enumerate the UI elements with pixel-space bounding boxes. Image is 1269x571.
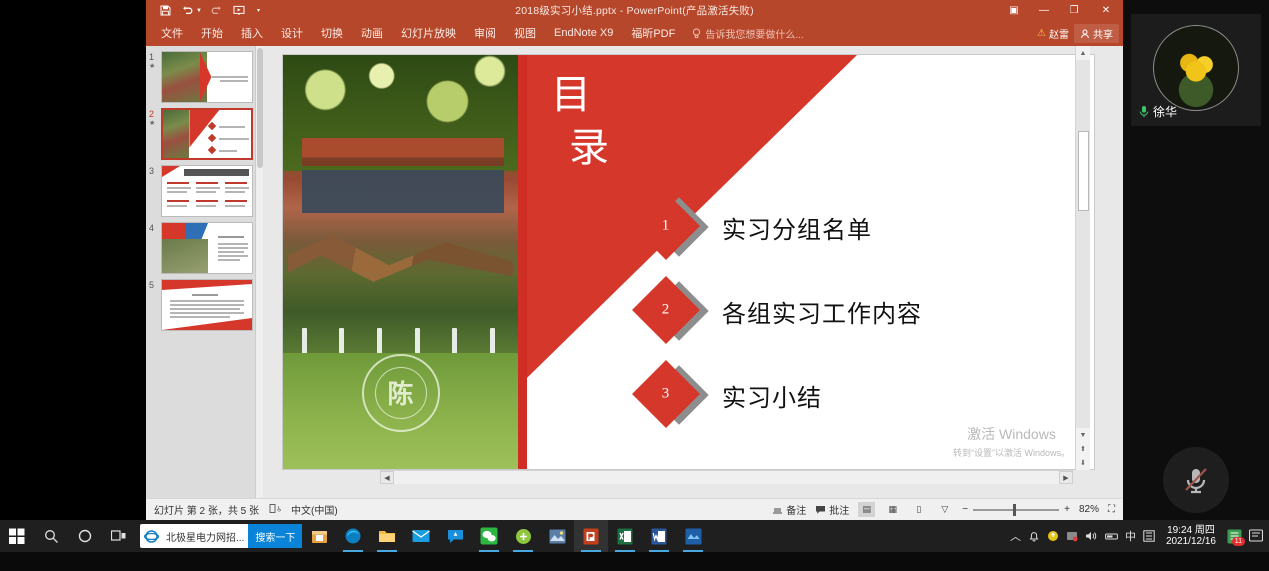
slide-title-line-2: 录 — [569, 122, 611, 175]
zoom-level[interactable]: 82% — [1079, 504, 1099, 515]
fit-slide-button[interactable]: ⛶ — [1108, 504, 1115, 515]
notes-label: 备注 — [786, 502, 806, 517]
thumbnail-preview[interactable] — [161, 165, 253, 217]
thumbnails-scrollbar[interactable] — [255, 46, 263, 498]
reading-view-button[interactable]: ▯ — [910, 502, 927, 517]
lightbulb-icon — [692, 28, 701, 39]
person-icon — [1080, 29, 1090, 39]
slide-canvas-area[interactable]: 陈 目 录 — [263, 46, 1098, 484]
tell-me-box[interactable]: 告诉我您想要做什么... — [692, 26, 803, 41]
quick-access-toolbar: ▼ ▾ — [146, 1, 262, 20]
next-slide-button[interactable]: ⬇ — [1076, 456, 1090, 470]
agenda-number: 3 — [662, 386, 670, 403]
taskbar-clock[interactable]: 19:24 周四 2021/12/16 — [1162, 525, 1220, 548]
thumbnail-slide-1[interactable]: 1 ★ — [146, 46, 263, 103]
svg-text:♿: ♿ — [276, 505, 281, 513]
wechat-icon[interactable] — [472, 520, 506, 552]
agenda-number: 2 — [662, 302, 670, 319]
left-black-border — [0, 0, 146, 520]
show-hidden-icons[interactable]: ︿ — [1010, 528, 1021, 544]
cortana-icon[interactable] — [68, 520, 102, 552]
volume-icon[interactable] — [1085, 530, 1098, 542]
ribbon-right-group: ⚠ 赵雷 共享 — [1037, 21, 1119, 46]
thumbnail-number: 5 — [149, 280, 154, 290]
comments-button[interactable]: 批注 — [815, 502, 849, 517]
muted-mic-icon — [1179, 463, 1213, 497]
animation-star-icon: ★ — [149, 63, 161, 71]
scroll-up-icon[interactable]: ▲ — [1076, 46, 1090, 60]
thumbnail-number: 1 — [149, 52, 154, 62]
user-name: 赵雷 — [1049, 26, 1069, 41]
agenda-item-3[interactable]: 3 实习小结 — [628, 353, 1088, 437]
thumbnail-slide-2[interactable]: 2 ★ — [146, 103, 263, 160]
excel-icon[interactable] — [608, 520, 642, 552]
agenda-text: 各组实习工作内容 — [722, 294, 922, 329]
comments-label: 批注 — [829, 502, 849, 517]
thumbnail-slide-4[interactable]: 4 — [146, 217, 263, 274]
slide-title[interactable]: 目 录 — [551, 69, 611, 175]
search-go-button[interactable]: 搜索一下 — [248, 524, 302, 548]
previous-slide-button[interactable]: ⬆ — [1076, 442, 1090, 456]
work-area: 1 ★ 2 ★ — [146, 46, 1123, 498]
photo-pavilion — [302, 138, 504, 246]
slide-red-stripe — [518, 55, 527, 469]
tab-insert[interactable]: 插入 — [232, 22, 272, 45]
tab-home[interactable]: 开始 — [192, 22, 232, 45]
share-button[interactable]: 共享 — [1074, 24, 1119, 43]
desktop-screen: ▼ ▾ 2018级实习小结.pptx - PowerPoint(产品激活失败) … — [0, 0, 1269, 571]
watermark-line-2: 转到“设置”以激活 Windows。 — [953, 446, 1070, 459]
tell-me-placeholder: 告诉我您想要做什么... — [705, 26, 803, 41]
video-call-panel: 徐华 — [1123, 0, 1269, 520]
tab-endnote[interactable]: EndNote X9 — [545, 24, 622, 43]
notification-badge: 11 — [1232, 537, 1245, 546]
microsoft-store-icon[interactable] — [302, 520, 336, 552]
clock-time: 19:24 周四 — [1166, 525, 1216, 537]
thumbnail-preview[interactable] — [161, 108, 253, 160]
search-query-text[interactable]: 北极星电力网招... — [162, 529, 248, 544]
agenda-item-1[interactable]: 1 实习分组名单 — [628, 185, 1088, 269]
red-diamond-icon: 2 — [632, 276, 700, 344]
red-diamond-icon: 3 — [632, 360, 700, 428]
scroll-right-icon[interactable]: ▶ — [1059, 471, 1073, 484]
agenda-item-2[interactable]: 2 各组实习工作内容 — [628, 269, 1088, 353]
system-tray: ︿ 中 19:24 周四 2021/12/16 — [1010, 525, 1269, 548]
close-button[interactable]: ✕ — [1089, 0, 1123, 21]
task-view-icon[interactable] — [102, 520, 136, 552]
windows-taskbar: 北极星电力网招... 搜索一下 — [0, 520, 1269, 552]
slide-title-line-1: 目 — [551, 69, 611, 122]
agenda-diamond-marker: 1 — [628, 196, 714, 258]
agenda-number: 1 — [662, 218, 670, 235]
participant-name: 徐华 — [1153, 103, 1177, 120]
agenda-text: 实习小结 — [722, 378, 822, 413]
network-icon[interactable] — [1105, 531, 1118, 542]
window-title: 2018级实习小结.pptx - PowerPoint(产品激活失败) — [146, 3, 1123, 18]
search-icon[interactable] — [34, 520, 68, 552]
file-explorer-icon[interactable] — [370, 520, 404, 552]
slideshow-icon[interactable] — [228, 1, 250, 20]
minimize-button[interactable]: — — [1029, 0, 1059, 21]
slide-counter: 幻灯片 第 2 张，共 5 张 — [154, 502, 259, 517]
status-bar: 幻灯片 第 2 张，共 5 张 ♿ 中文(中国) 备注 批注 ▤ ▦ ▯ ▽ — [146, 498, 1123, 520]
slide-sorter-view-button[interactable]: ▦ — [884, 502, 901, 517]
zoom-thumb[interactable] — [1013, 504, 1016, 516]
ime-tools-icon[interactable] — [1143, 530, 1155, 542]
thumbnail-slide-3[interactable]: 3 — [146, 160, 263, 217]
agenda-diamond-marker: 2 — [628, 280, 714, 342]
normal-view-button[interactable]: ▤ — [858, 502, 875, 517]
tab-foxit-pdf[interactable]: 福昕PDF — [622, 22, 684, 45]
current-slide[interactable]: 陈 目 录 — [282, 54, 1095, 470]
seal-inner-ring: 陈 — [375, 367, 427, 419]
share-label: 共享 — [1093, 26, 1113, 41]
window-controls: ▣ — ❐ ✕ — [999, 0, 1123, 21]
update-icon[interactable] — [1047, 530, 1059, 542]
ribbon-tab-bar: 文件 开始 插入 设计 切换 动画 幻灯片放映 审阅 视图 EndNote X9… — [146, 21, 1123, 46]
thumbnail-preview[interactable] — [161, 222, 253, 274]
thumbnail-slide-5[interactable]: 5 — [146, 274, 263, 331]
zoom-track[interactable] — [973, 509, 1059, 511]
mail-icon[interactable] — [404, 520, 438, 552]
taskbar-search-box[interactable]: 北极星电力网招... 搜索一下 — [140, 524, 302, 548]
thumbnail-number: 3 — [149, 166, 154, 176]
tab-file[interactable]: 文件 — [152, 22, 192, 45]
red-diamond-icon: 1 — [632, 192, 700, 260]
clock-date: 2021/12/16 — [1166, 536, 1216, 548]
title-bar: ▼ ▾ 2018级实习小结.pptx - PowerPoint(产品激活失败) … — [146, 0, 1123, 21]
action-center-icon[interactable] — [1249, 529, 1263, 543]
notes-icon — [772, 505, 783, 515]
thumbnail-number: 2 — [149, 109, 154, 119]
tab-view[interactable]: 视图 — [505, 22, 545, 45]
start-icon[interactable] — [0, 520, 34, 552]
participant-name-row: 徐华 — [1139, 103, 1177, 120]
tab-animations[interactable]: 动画 — [352, 22, 392, 45]
university-seal-logo: 陈 — [362, 354, 440, 432]
slide-vertical-scrollbar[interactable]: ▲ ▼ ⬆ ⬇ — [1075, 46, 1090, 470]
security-icon[interactable] — [1066, 530, 1078, 542]
ime-icon[interactable]: 中 — [1125, 528, 1136, 544]
slide-horizontal-scrollbar[interactable]: ◀ ▶ — [380, 470, 1073, 484]
seal-character: 陈 — [387, 374, 413, 411]
accessibility-icon[interactable]: ♿ — [269, 503, 281, 517]
zoom-out-button[interactable]: − — [962, 504, 968, 515]
participant-avatar — [1153, 25, 1239, 111]
warning-icon: ⚠ — [1037, 28, 1046, 39]
notifications-icon[interactable]: 11 — [1227, 529, 1242, 544]
bottom-black-border — [0, 552, 1269, 571]
bell-icon[interactable] — [1028, 530, 1040, 542]
undo-dropdown-icon[interactable]: ▼ — [196, 8, 202, 14]
scrollbar-track[interactable] — [1076, 60, 1090, 428]
slideshow-view-button[interactable]: ▽ — [936, 502, 953, 517]
scroll-left-icon[interactable]: ◀ — [380, 471, 394, 484]
redo-icon[interactable] — [205, 1, 227, 20]
thumbnail-preview[interactable] — [161, 279, 253, 331]
zoom-in-button[interactable]: + — [1064, 504, 1070, 515]
green-app-icon[interactable] — [506, 520, 540, 552]
tab-design[interactable]: 设计 — [272, 22, 312, 45]
save-icon[interactable] — [154, 1, 176, 20]
tim-icon[interactable] — [438, 520, 472, 552]
scrollbar-thumb[interactable] — [1078, 131, 1089, 211]
status-right-group: 备注 批注 ▤ ▦ ▯ ▽ − + 82% ⛶ — [772, 502, 1123, 517]
tab-transitions[interactable]: 切换 — [312, 22, 352, 45]
internet-explorer-icon — [140, 529, 162, 544]
account-status[interactable]: ⚠ 赵雷 — [1037, 26, 1069, 41]
microphone-icon — [1139, 105, 1149, 118]
powerpoint-window: ▼ ▾ 2018级实习小结.pptx - PowerPoint(产品激活失败) … — [146, 0, 1123, 520]
powerpoint-icon[interactable] — [574, 520, 608, 552]
qat-customize-icon[interactable]: ▾ — [257, 7, 260, 14]
zoom-slider[interactable]: − + — [962, 504, 1070, 515]
slide-photo[interactable]: 陈 — [283, 55, 518, 469]
slide-thumbnails-pane[interactable]: 1 ★ 2 ★ — [146, 46, 263, 498]
agenda-text: 实习分组名单 — [722, 210, 872, 245]
thumbnail-number: 4 — [149, 223, 154, 233]
word-icon[interactable] — [642, 520, 676, 552]
restore-button[interactable]: ❐ — [1059, 0, 1089, 21]
blue-app-icon[interactable] — [676, 520, 710, 552]
language-indicator[interactable]: 中文(中国) — [291, 502, 338, 517]
participant-tile[interactable]: 徐华 — [1131, 14, 1261, 126]
self-mute-button[interactable] — [1163, 447, 1229, 513]
edge-icon[interactable] — [336, 520, 370, 552]
tab-slideshow[interactable]: 幻灯片放映 — [392, 22, 465, 45]
agenda-list: 1 实习分组名单 2 各组实习 — [628, 185, 1088, 437]
agenda-diamond-marker: 3 — [628, 364, 714, 426]
photos-icon[interactable] — [540, 520, 574, 552]
ribbon-display-options-icon[interactable]: ▣ — [999, 0, 1029, 21]
comment-icon — [815, 505, 826, 515]
tab-review[interactable]: 审阅 — [465, 22, 505, 45]
status-left-group: 幻灯片 第 2 张，共 5 张 ♿ 中文(中国) — [146, 502, 338, 517]
notes-button[interactable]: 备注 — [772, 502, 806, 517]
thumbnail-preview[interactable] — [161, 51, 253, 103]
scroll-down-icon[interactable]: ▼ — [1076, 428, 1090, 442]
animation-star-icon: ★ — [149, 120, 161, 128]
